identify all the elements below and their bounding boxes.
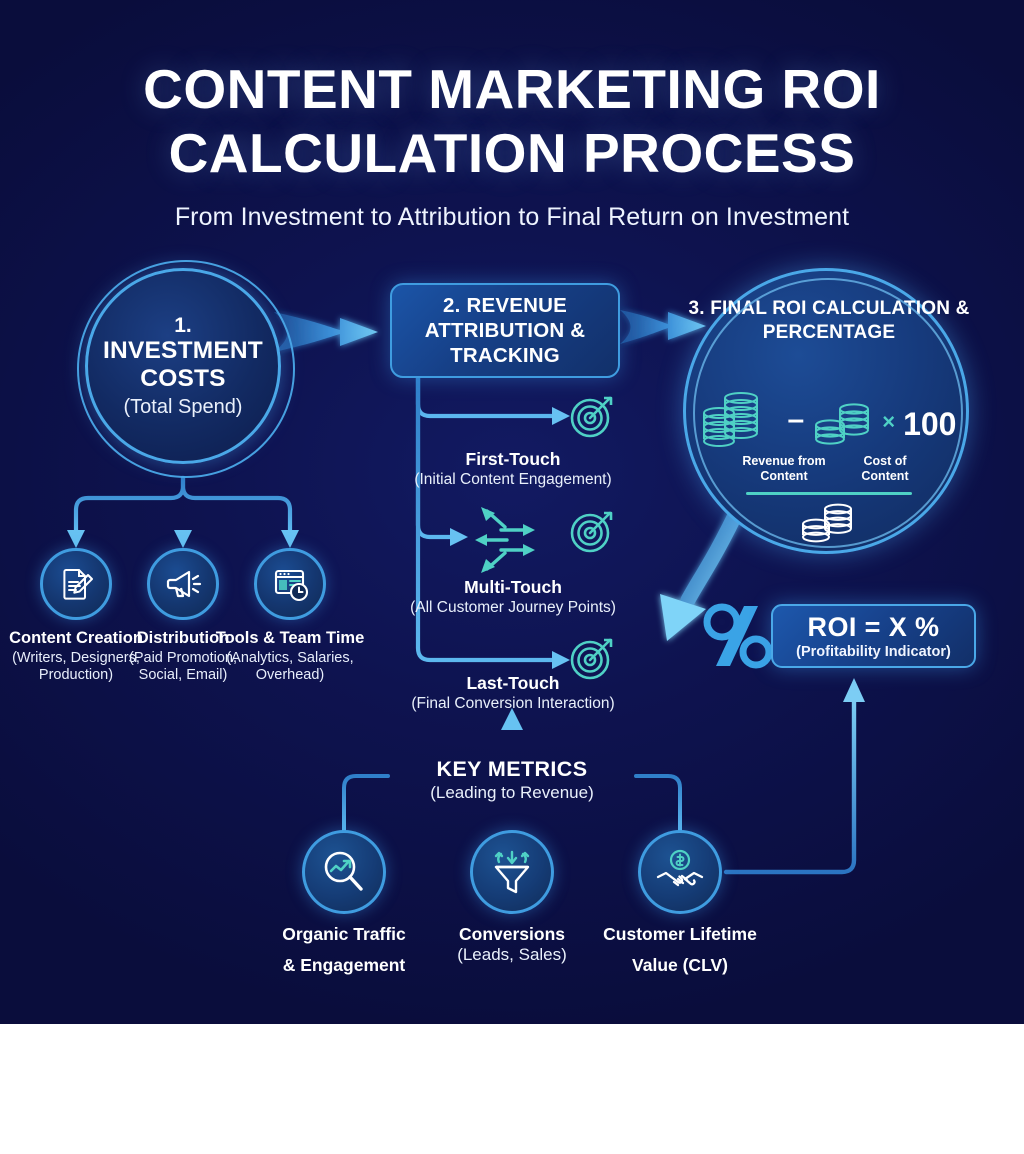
roi-result-badge[interactable]: ROI = X % (Profitability Indicator): [771, 604, 976, 668]
document-pencil-icon: [55, 563, 97, 605]
stage2-revenue-attribution-node[interactable]: 2. REVENUE ATTRIBUTION & TRACKING: [390, 283, 620, 378]
coin-stack-white-icon: [800, 502, 858, 544]
attribution-name: Last-Touch: [383, 673, 643, 694]
content-creation-icon-circle: [40, 548, 112, 620]
formula-cost-label: Cost of Content: [848, 454, 922, 484]
key-metric-name: Customer Lifetime: [590, 924, 770, 945]
formula-times-operator: ×: [882, 409, 895, 451]
attribution-detail: (Initial Content Engagement): [383, 471, 643, 489]
distribution-icon-circle: [147, 548, 219, 620]
percent-icon: [700, 600, 780, 672]
coin-stack-short-icon: [812, 401, 874, 451]
key-metric-clv[interactable]: Customer Lifetime Value (CLV): [590, 830, 770, 976]
target-arrow-icon-first-touch: [566, 390, 618, 442]
stage1-subtitle: (Total Spend): [88, 396, 278, 419]
clv-icon-circle: [638, 830, 722, 914]
formula-multiplier: 100: [903, 406, 956, 451]
handshake-dollar-icon: [654, 846, 706, 898]
page-subtitle: From Investment to Attribution to Final …: [0, 203, 1024, 232]
formula-revenue-label: Revenue from Content: [736, 454, 832, 484]
coin-stack-tall-icon: [702, 389, 780, 451]
organic-traffic-icon-circle: [302, 830, 386, 914]
attribution-last-touch[interactable]: Last-Touch (Final Conversion Interaction…: [383, 673, 643, 713]
attribution-detail: (All Customer Journey Points): [383, 599, 643, 617]
key-metrics-title: KEY METRICS: [382, 757, 642, 782]
arrow-keymetrics-to-lasttouch: [501, 708, 523, 755]
key-metric-name2: & Engagement: [254, 955, 434, 976]
stage2-title: 2. REVENUE ATTRIBUTION & TRACKING: [392, 293, 618, 368]
magnifier-trend-icon: [318, 846, 370, 898]
formula-fraction-bar: [746, 492, 912, 495]
investment-item-name: Tools & Team Time: [215, 629, 365, 648]
tools-team-time-icon-circle: [254, 548, 326, 620]
key-metrics-header: KEY METRICS (Leading to Revenue): [382, 757, 642, 803]
conversions-icon-circle: [470, 830, 554, 914]
stage1-title: INVESTMENT COSTS: [88, 337, 278, 392]
attribution-detail: (Final Conversion Interaction): [383, 695, 643, 713]
roi-equation: ROI = X %: [808, 612, 940, 643]
key-metric-conversions[interactable]: Conversions (Leads, Sales): [422, 830, 602, 965]
multi-arrow-icon: [471, 505, 567, 575]
attribution-multi-touch[interactable]: Multi-Touch (All Customer Journey Points…: [383, 577, 643, 617]
formula-minus-operator: –: [788, 403, 805, 451]
stage1-branch-arrowheads: [67, 530, 299, 548]
dashboard-clock-icon: [268, 562, 312, 606]
stage3-title: 3. FINAL ROI CALCULATION & PERCENTAGE: [686, 297, 972, 346]
key-metric-name2: (Leads, Sales): [422, 945, 602, 965]
funnel-icon: [487, 847, 537, 897]
investment-item-detail: (Analytics, Salaries, Overhead): [215, 650, 365, 684]
stage3-final-roi-node[interactable]: 3. FINAL ROI CALCULATION & PERCENTAGE: [683, 268, 969, 554]
roi-note: (Profitability Indicator): [796, 644, 951, 660]
stage1-number: 1.: [88, 314, 278, 338]
attribution-name: First-Touch: [383, 449, 643, 470]
roi-formula: – × 100: [686, 389, 972, 544]
key-metric-name2: Value (CLV): [590, 955, 770, 976]
attribution-name: Multi-Touch: [383, 577, 643, 598]
infographic-canvas: CONTENT MARKETING ROI CALCULATION PROCES…: [0, 0, 1024, 1024]
attribution-first-touch[interactable]: First-Touch (Initial Content Engagement): [383, 449, 643, 489]
key-metric-name: Organic Traffic: [254, 924, 434, 945]
megaphone-icon: [161, 562, 205, 606]
target-arrow-icon-multi-touch: [566, 505, 618, 557]
stage1-investment-costs-node[interactable]: 1. INVESTMENT COSTS (Total Spend): [85, 268, 281, 464]
key-metric-organic-traffic[interactable]: Organic Traffic & Engagement: [254, 830, 434, 976]
header: CONTENT MARKETING ROI CALCULATION PROCES…: [0, 58, 1024, 232]
page-title: CONTENT MARKETING ROI CALCULATION PROCES…: [0, 58, 1024, 186]
investment-item-tools-team-time[interactable]: Tools & Team Time (Analytics, Salaries, …: [215, 548, 365, 684]
key-metrics-subtitle: (Leading to Revenue): [382, 783, 642, 803]
key-metric-name: Conversions: [422, 924, 602, 945]
bottom-white-strip: [0, 1024, 1024, 1154]
